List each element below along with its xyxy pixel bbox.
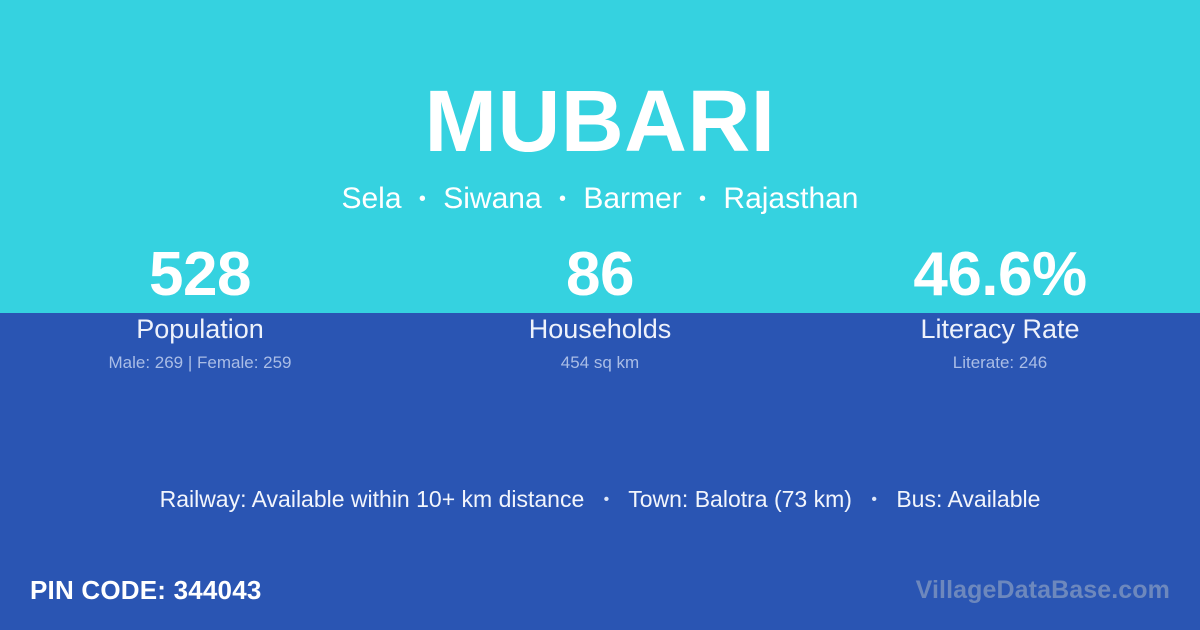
pin-code: PIN CODE: 344043 [30, 575, 262, 605]
stat-label: Households [400, 314, 800, 344]
page-title: MUBARI [0, 78, 1200, 165]
amenities-row: Railway: Available within 10+ km distanc… [0, 484, 1200, 518]
stat-households: 86 Households 454 sq km [400, 240, 800, 373]
bullet-separator-icon: • [690, 187, 715, 211]
stat-value: 86 [400, 240, 800, 310]
village-info-card: MUBARI Sela • Siwana • Barmer • Rajastha… [0, 0, 1200, 630]
site-brand: VillageDataBase.com [916, 575, 1170, 605]
amenity-town: Town: Balotra (73 km) [628, 486, 852, 512]
bullet-separator-icon: • [858, 485, 890, 515]
breadcrumb-item-district: Barmer [583, 182, 681, 215]
stat-sublabel: 454 sq km [400, 353, 800, 373]
breadcrumb-item-village: Sela [341, 182, 401, 215]
stat-literacy-rate: 46.6% Literacy Rate Literate: 246 [800, 240, 1200, 373]
stat-value: 46.6% [800, 240, 1200, 310]
stat-label: Literacy Rate [800, 314, 1200, 344]
bullet-separator-icon: • [410, 187, 435, 211]
breadcrumb-item-tehsil: Siwana [443, 182, 541, 215]
amenity-bus: Bus: Available [896, 486, 1040, 512]
stat-sublabel: Literate: 246 [800, 353, 1200, 373]
breadcrumb-item-state: Rajasthan [723, 182, 858, 215]
stat-value: 528 [0, 240, 400, 310]
amenity-railway: Railway: Available within 10+ km distanc… [160, 486, 585, 512]
stat-sublabel: Male: 269 | Female: 259 [0, 353, 400, 373]
breadcrumb: Sela • Siwana • Barmer • Rajasthan [0, 181, 1200, 217]
stat-population: 528 Population Male: 269 | Female: 259 [0, 240, 400, 373]
stat-label: Population [0, 314, 400, 344]
stats-row: 528 Population Male: 269 | Female: 259 8… [0, 240, 1200, 373]
bullet-separator-icon: • [550, 187, 575, 211]
bullet-separator-icon: • [591, 485, 623, 515]
footer-bar: PIN CODE: 344043 VillageDataBase.com [0, 550, 1200, 630]
